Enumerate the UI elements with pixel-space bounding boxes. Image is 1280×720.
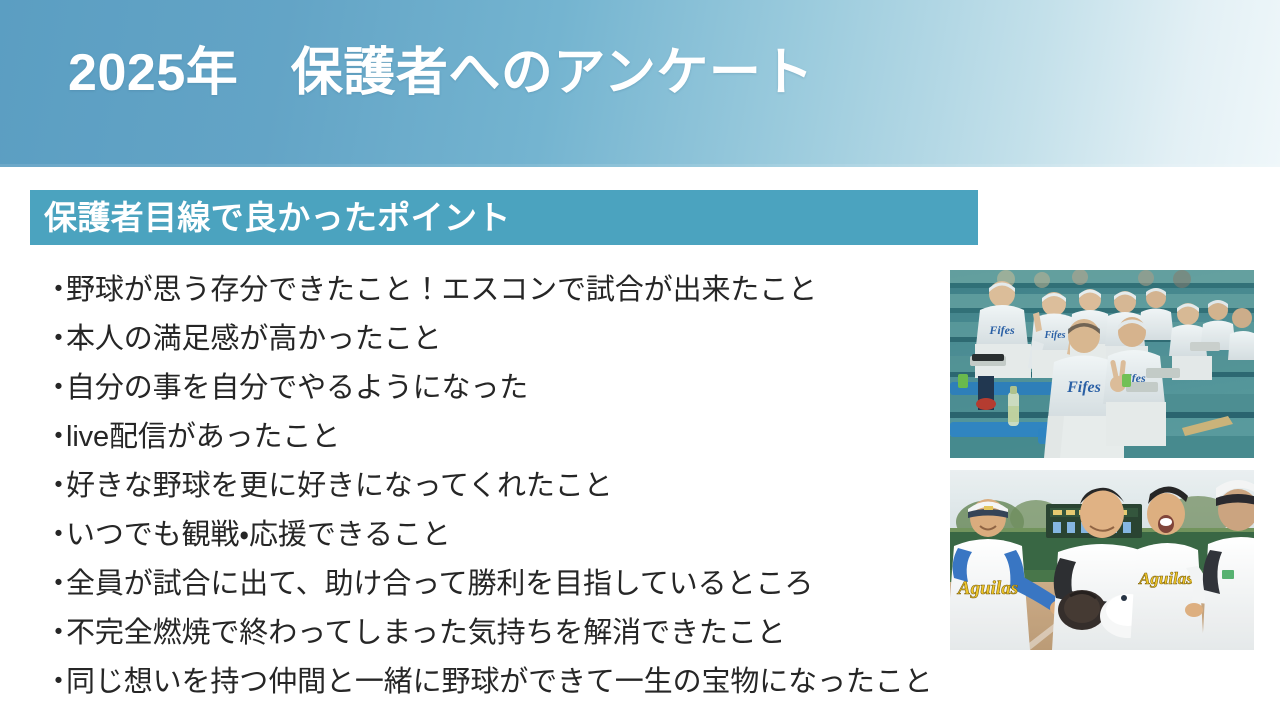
section-heading-bar: 保護者目線で良かったポイント [30,190,978,245]
list-item: ・ いつでも観戦・応援できること [44,511,944,560]
list-item-label: いつでも観戦・応援できること [66,511,944,560]
list-item-label: live配信があったこと [66,413,944,462]
slide: 2025年 保護者へのアンケート 保護者目線で良かったポイント ・ 野球が思う存… [0,0,1280,720]
bullet-dot-icon: ・ [44,511,66,560]
list-item-label: 自分の事を自分でやるようになった [66,364,944,413]
bullet-dot-icon: ・ [44,560,66,609]
list-item-label: 好きな野球を更に好きになってくれたこと [66,462,944,511]
bullet-dot-icon: ・ [44,315,66,364]
list-item: ・ 好きな野球を更に好きになってくれたこと [44,462,944,511]
photo-team-bleachers-image: Fifes Fifes [950,270,1254,458]
bullet-dot-icon: ・ [44,658,66,707]
list-item-label: 全員が試合に出て、助け合って勝利を目指しているところ [66,560,944,609]
bullet-dot-icon: ・ [44,364,66,413]
list-item: ・ 全員が試合に出て、助け合って勝利を目指しているところ [44,560,944,609]
photo-team-celebrating-image: Aguilas [950,470,1254,650]
list-item: ・ 同じ想いを持つ仲間と一緒に野球ができて一生の宝物になったこと [44,658,944,707]
list-item: ・ 不完全燃焼で終わってしまった気持ちを解消できたこと [44,609,944,658]
list-item: ・ 野球が思う存分できたこと！エスコンで試合が出来たこと [44,266,944,315]
photo-team-celebrating: Aguilas [950,470,1254,650]
list-item-label: 野球が思う存分できたこと！エスコンで試合が出来たこと [66,266,944,315]
list-item: ・ 自分の事を自分でやるようになった [44,364,944,413]
photo-team-bleachers: Fifes Fifes [950,270,1254,458]
list-item-label: 同じ想いを持つ仲間と一緒に野球ができて一生の宝物になったこと [66,658,944,707]
slide-header-band: 2025年 保護者へのアンケート [0,0,1280,167]
bullet-list: ・ 野球が思う存分できたこと！エスコンで試合が出来たこと ・ 本人の満足感が高か… [44,266,944,707]
section-heading-label: 保護者目線で良かったポイント [30,201,511,234]
list-item-label: 本人の満足感が高かったこと [66,315,944,364]
list-item-label: 不完全燃焼で終わってしまった気持ちを解消できたこと [66,609,944,658]
bullet-dot-icon: ・ [44,413,66,462]
bullet-dot-icon: ・ [44,266,66,315]
bullet-dot-icon: ・ [44,462,66,511]
list-item: ・ 本人の満足感が高かったこと [44,315,944,364]
page-title: 2025年 保護者へのアンケート [68,44,814,104]
list-item: ・ live配信があったこと [44,413,944,462]
bullet-dot-icon: ・ [44,609,66,658]
